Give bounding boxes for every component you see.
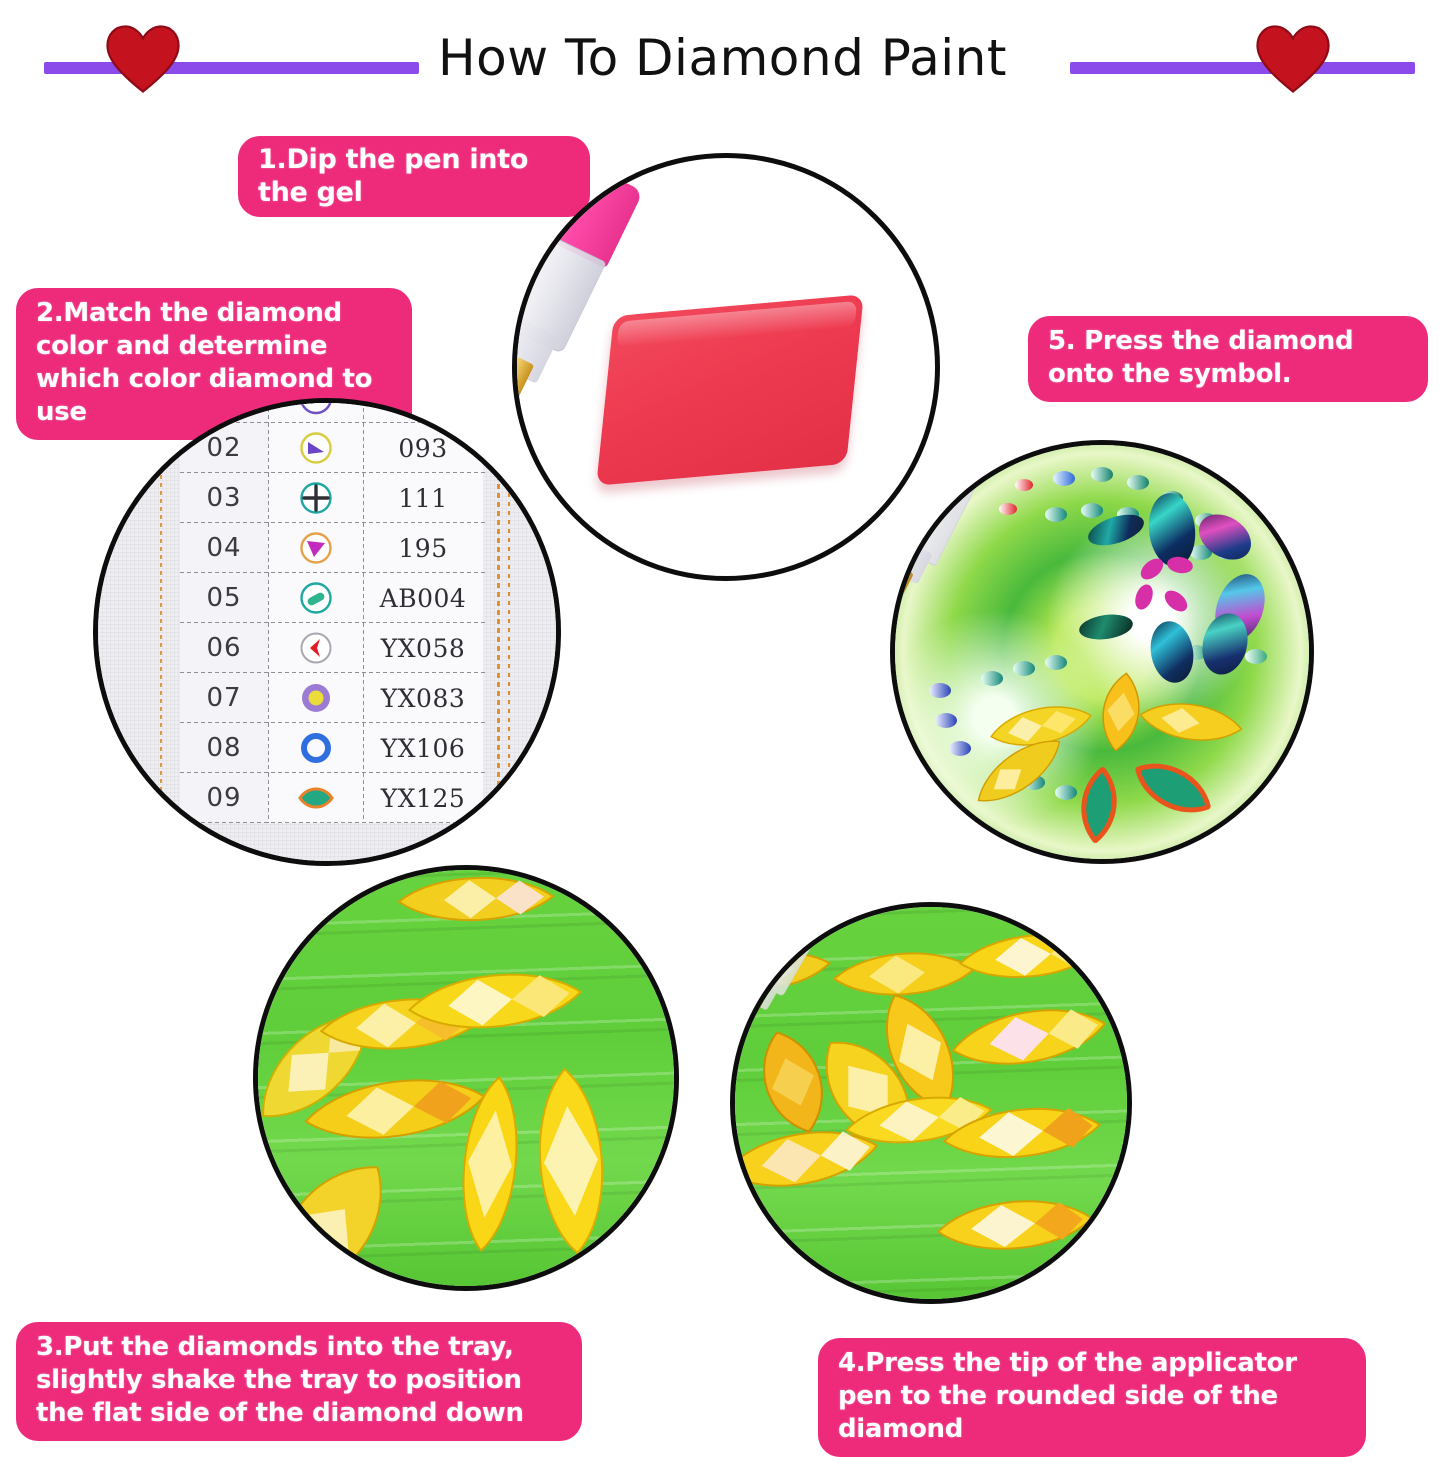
dot-in-ring-symbol [296, 678, 336, 718]
chart-cell-symbol [268, 473, 363, 523]
chart-cell-code: YX125 [363, 773, 483, 823]
chevron-symbol [296, 628, 336, 668]
chart-cell-no: 09 [180, 773, 268, 823]
chart-cell-no: 02 [180, 423, 268, 473]
chart-cell-code: 195 [363, 523, 483, 573]
step-1-photo [512, 153, 940, 581]
chart-cell-symbol [268, 423, 363, 473]
chart-cell-no: 07 [180, 673, 268, 723]
table-row: 02 093 [180, 423, 485, 473]
infographic-canvas: How To Diamond Paint 1.Dip the pen into … [0, 0, 1445, 1445]
yellow-diamond [513, 1063, 628, 1260]
table-row: 07 YX083 [180, 673, 485, 723]
step-5-photo [890, 440, 1314, 864]
chart-cell-symbol [268, 773, 363, 823]
step-4-photo [730, 902, 1132, 1304]
table-row: 08 YX106 [180, 723, 485, 773]
chart-cell-no: 08 [180, 723, 268, 773]
leaf-outline [1069, 764, 1129, 845]
chart-cell-symbol [268, 523, 363, 573]
triangle-symbol [296, 428, 336, 468]
yellow-diamond [932, 1182, 1098, 1268]
step-3-photo [253, 865, 679, 1291]
chart-cell-code: 111 [363, 473, 483, 523]
chart-cell-symbol [268, 623, 363, 673]
leaf-symbol [296, 778, 336, 818]
chart-cell-code: YX058 [363, 623, 483, 673]
step-4-label: 4.Press the tip of the applicator pen to… [818, 1338, 1366, 1457]
chart-cell-code: YX083 [363, 673, 483, 723]
chart-cell-no: 03 [180, 473, 268, 523]
step-5-label: 5. Press the diamond onto the symbol. [1028, 316, 1428, 402]
chart-cell-no: 06 [180, 623, 268, 673]
triangle-symbol [296, 528, 336, 568]
canvas-guide-line-right-2 [508, 403, 510, 861]
plus-symbol [296, 478, 336, 518]
chart-cell-symbol [268, 723, 363, 773]
step-3-label: 3.Put the diamonds into the tray, slight… [16, 1322, 582, 1441]
canvas-guide-line-right [497, 403, 500, 861]
double-arrow-symbol [296, 398, 336, 418]
capsule-symbol [296, 578, 336, 618]
table-row: 09 YX125 [180, 773, 485, 823]
leaf-outline [1123, 744, 1223, 831]
table-row: 05 AB004 [180, 573, 485, 623]
table-row: 03 111 [180, 473, 485, 523]
ring-symbol [296, 728, 336, 768]
canvas-guide-line-left [160, 403, 162, 861]
table-row: 06 YX058 [180, 623, 485, 673]
chart-cell-no: 05 [180, 573, 268, 623]
chart-cell-symbol [268, 573, 363, 623]
yellow-diamond [1134, 690, 1248, 755]
page-title: How To Diamond Paint [0, 28, 1445, 88]
chart-cell-symbol [268, 398, 363, 423]
chart-cell-symbol [268, 673, 363, 723]
gel-pad [596, 294, 864, 485]
color-code-chart: 01 028 02 093 [180, 398, 485, 823]
chart-cell-no: 04 [180, 523, 268, 573]
step-2-photo: 01 028 02 093 [93, 398, 561, 866]
chart-cell-code: AB004 [363, 573, 483, 623]
pen-tip [730, 986, 764, 1055]
chart-cell-code: YX106 [363, 723, 483, 773]
chart-cell-code: 093 [363, 423, 483, 473]
yellow-diamond [395, 865, 557, 933]
table-row: 04 195 [180, 523, 485, 573]
